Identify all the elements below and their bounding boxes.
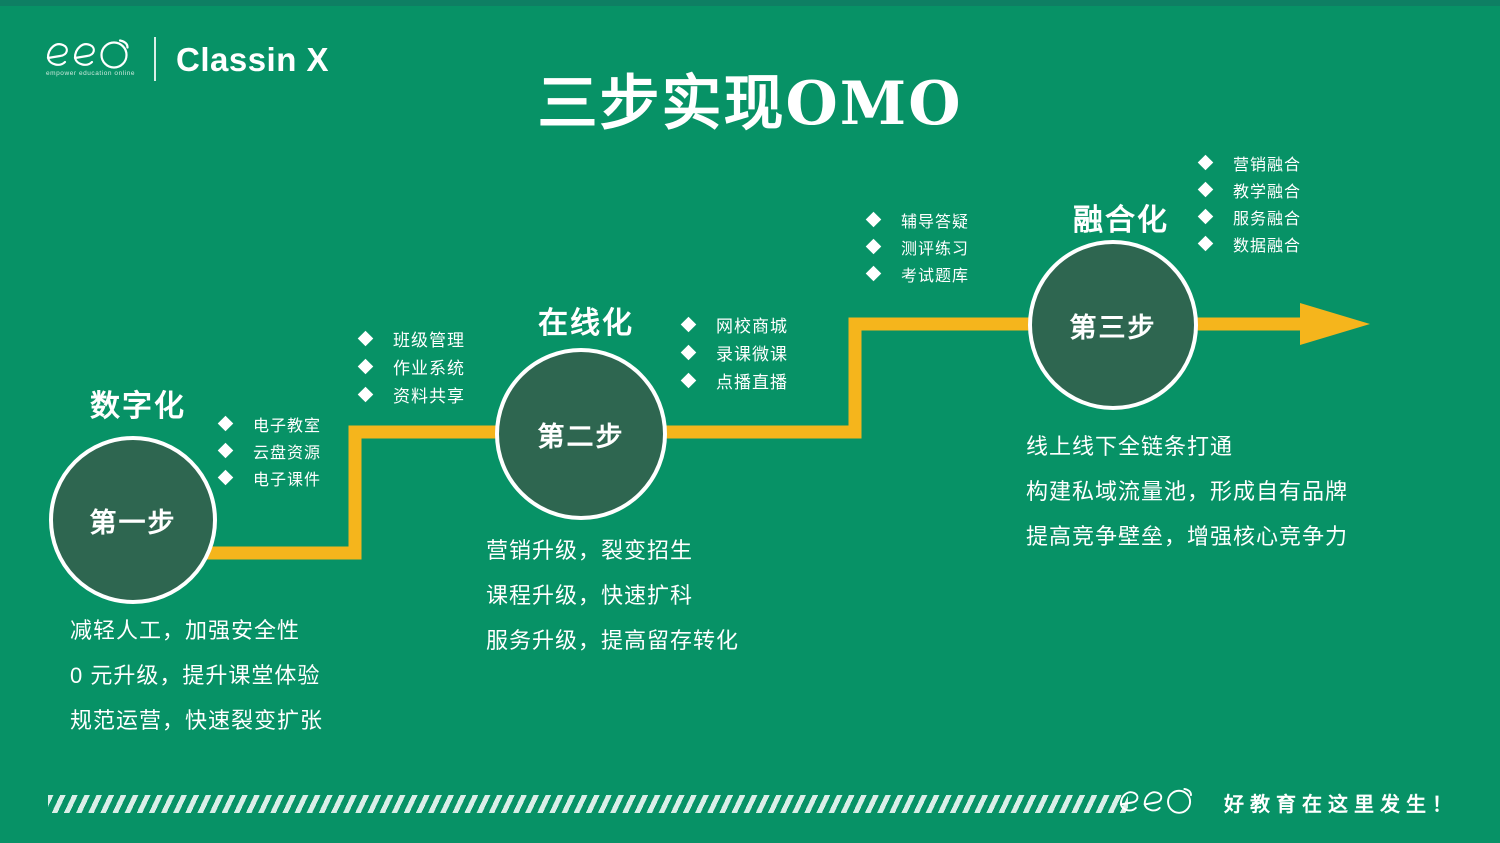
bullet-label: 测评练习: [901, 235, 969, 259]
bullet-label: 云盘资源: [253, 439, 321, 463]
footer-brand: 好教育在这里发生！: [1116, 785, 1458, 820]
diagonal-stripes-icon: [48, 795, 1128, 813]
step-2-circle[interactable]: 第二步: [495, 348, 667, 520]
bullet-label: 资料共享: [393, 382, 465, 407]
description-line: 营销升级，裂变招生: [486, 528, 739, 573]
diamond-bullet-icon: [866, 266, 882, 282]
list-item: 作业系统: [360, 352, 465, 380]
step-2-phase-heading: 在线化: [538, 298, 634, 342]
description-line: 提高竞争壁垒，增强核心竞争力: [1026, 514, 1348, 559]
diamond-bullet-icon: [866, 239, 882, 255]
diamond-bullet-icon: [681, 316, 697, 332]
list-item: 电子教室: [220, 410, 321, 437]
step-2-bullet-list-right: 网校商城 录课微课 点播直播: [683, 310, 788, 394]
diamond-bullet-icon: [358, 330, 374, 346]
step-1-circle[interactable]: 第一步: [49, 436, 217, 604]
list-item: 考试题库: [868, 260, 969, 287]
slide-footer: 好教育在这里发生！: [0, 773, 1500, 843]
bullet-label: 电子教室: [253, 412, 321, 436]
footer-slogan: 好教育在这里发生！: [1224, 788, 1458, 817]
list-item: 数据融合: [1200, 230, 1301, 257]
list-item: 资料共享: [360, 380, 465, 408]
step-1-description: 减轻人工，加强安全性 0 元升级，提升课堂体验 规范运营，快速裂变扩张: [70, 608, 323, 743]
list-item: 服务融合: [1200, 203, 1301, 230]
diamond-bullet-icon: [866, 212, 882, 228]
step-3-description: 线上线下全链条打通 构建私域流量池，形成自有品牌 提高竞争壁垒，增强核心竞争力: [1026, 424, 1348, 559]
diamond-bullet-icon: [218, 470, 234, 486]
diamond-bullet-icon: [358, 358, 374, 374]
step-1-phase-heading: 数字化: [90, 381, 186, 425]
step-1-bullet-list: 电子教室 云盘资源 电子课件: [220, 410, 321, 491]
diamond-bullet-icon: [1198, 182, 1214, 198]
bullet-label: 营销融合: [1233, 151, 1301, 175]
bullet-label: 辅导答疑: [901, 208, 969, 232]
description-line: 线上线下全链条打通: [1026, 424, 1348, 469]
step-3-phase-heading: 融合化: [1073, 195, 1169, 239]
slide-canvas: empower education online Classin X 三步实现O…: [0, 0, 1500, 843]
bullet-label: 电子课件: [253, 466, 321, 490]
diamond-bullet-icon: [358, 386, 374, 402]
diamond-bullet-icon: [681, 372, 697, 388]
description-line: 课程升级，快速扩科: [486, 573, 739, 618]
description-line: 减轻人工，加强安全性: [70, 608, 323, 653]
diamond-bullet-icon: [1198, 236, 1214, 252]
diamond-bullet-icon: [681, 344, 697, 360]
list-item: 营销融合: [1200, 149, 1301, 176]
eeo-logo-icon: [1116, 785, 1198, 820]
description-line: 构建私域流量池，形成自有品牌: [1026, 469, 1348, 514]
step-2-description: 营销升级，裂变招生 课程升级，快速扩科 服务升级，提高留存转化: [486, 528, 739, 663]
bullet-label: 网校商城: [716, 312, 788, 337]
description-line: 服务升级，提高留存转化: [486, 618, 739, 663]
list-item: 电子课件: [220, 464, 321, 491]
step-3-bullet-list-left: 辅导答疑 测评练习 考试题库: [868, 206, 969, 287]
list-item: 点播直播: [683, 366, 788, 394]
step-2-bullet-list-left: 班级管理 作业系统 资料共享: [360, 324, 465, 408]
list-item: 班级管理: [360, 324, 465, 352]
step-3-bullet-list-right: 营销融合 教学融合 服务融合 数据融合: [1200, 149, 1301, 257]
bullet-label: 考试题库: [901, 262, 969, 286]
description-line: 规范运营，快速裂变扩张: [70, 698, 323, 743]
bullet-label: 班级管理: [393, 326, 465, 351]
diamond-bullet-icon: [1198, 209, 1214, 225]
description-line: 0 元升级，提升课堂体验: [70, 653, 323, 698]
diamond-bullet-icon: [218, 443, 234, 459]
list-item: 云盘资源: [220, 437, 321, 464]
bullet-label: 数据融合: [1233, 232, 1301, 256]
bullet-label: 作业系统: [393, 354, 465, 379]
bullet-label: 教学融合: [1233, 178, 1301, 202]
diamond-bullet-icon: [218, 416, 234, 432]
list-item: 网校商城: [683, 310, 788, 338]
bullet-label: 点播直播: [716, 368, 788, 393]
bullet-label: 录课微课: [716, 340, 788, 365]
list-item: 教学融合: [1200, 176, 1301, 203]
diamond-bullet-icon: [1198, 155, 1214, 171]
step-3-circle[interactable]: 第三步: [1028, 240, 1198, 410]
list-item: 录课微课: [683, 338, 788, 366]
list-item: 辅导答疑: [868, 206, 969, 233]
list-item: 测评练习: [868, 233, 969, 260]
bullet-label: 服务融合: [1233, 205, 1301, 229]
